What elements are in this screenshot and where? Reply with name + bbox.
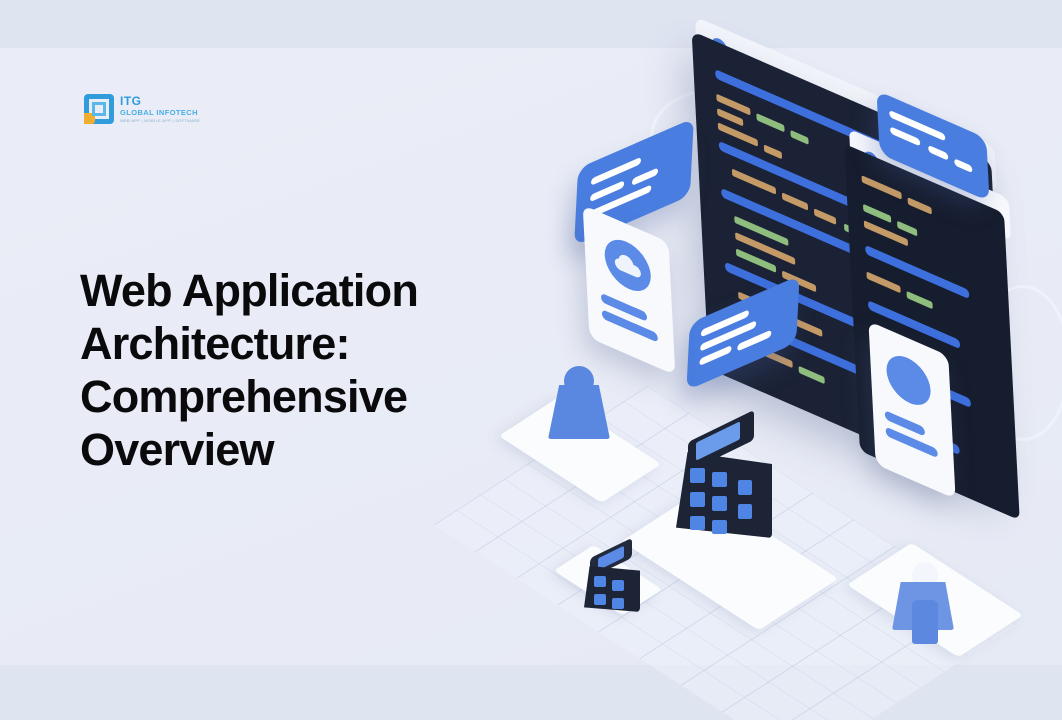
- thumbnail-canvas: ITG GLOBAL INFOTECH WEB APP | MOBILE APP…: [0, 0, 1062, 720]
- hero-illustration: [500, 60, 1062, 660]
- brand-name-short: ITG: [120, 95, 200, 107]
- white-profile-card-left: [583, 205, 676, 376]
- user-avatar-icon: [885, 348, 931, 412]
- page-title: Web Application Architecture: Comprehens…: [80, 264, 510, 476]
- brand-name-full: GLOBAL INFOTECH: [120, 109, 200, 117]
- brand-logo-text: ITG GLOBAL INFOTECH WEB APP | MOBILE APP…: [120, 95, 200, 123]
- cloud-avatar-icon: [604, 232, 652, 299]
- letterbox-top: [0, 0, 1062, 48]
- brand-logo[interactable]: ITG GLOBAL INFOTECH WEB APP | MOBILE APP…: [84, 94, 200, 124]
- brand-tagline: WEB APP | MOBILE APP | SOFTWARE: [120, 119, 200, 123]
- itg-logo-mark-icon: [84, 94, 114, 124]
